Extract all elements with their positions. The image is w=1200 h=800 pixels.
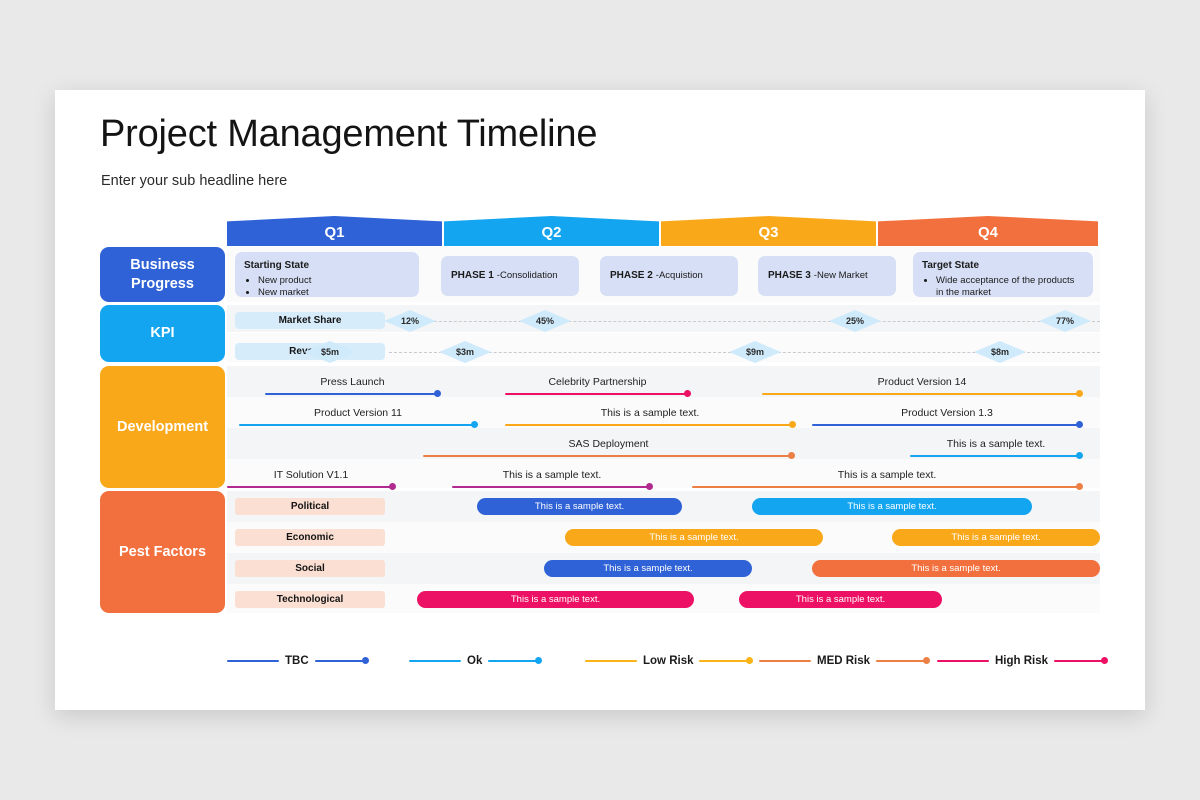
phase-desc: -Consolidation <box>497 270 558 283</box>
legend-endpoint-dot <box>1101 657 1108 664</box>
pest-label-technological[interactable]: Technological <box>235 591 385 608</box>
development-track-line <box>812 424 1082 427</box>
development-track-endpoint <box>1076 452 1083 459</box>
kpi-marker-value: 45% <box>536 316 554 326</box>
development-track-line <box>265 393 440 396</box>
business-progress-phase-card-3[interactable]: PHASE 3-New Market <box>758 256 896 296</box>
legend: TBCOkLow RiskMED RiskHigh Risk <box>227 648 1107 674</box>
legend-item-tbc[interactable]: TBC <box>227 648 367 674</box>
kpi-connector-line <box>389 321 1100 322</box>
category-label: BusinessProgress <box>130 256 194 293</box>
development-track-line <box>692 486 1082 489</box>
card-bullets: New productNew market <box>244 275 410 301</box>
development-track-endpoint <box>1076 390 1083 397</box>
legend-line-left <box>759 660 811 663</box>
legend-label: Low Risk <box>637 655 699 667</box>
page-title: Project Management Timeline <box>100 113 597 156</box>
pest-bar-text: This is a sample text. <box>911 563 1000 574</box>
business-progress-phase-card-2[interactable]: PHASE 2-Acquistion <box>600 256 738 296</box>
category-label: KPI <box>150 324 174 343</box>
development-track-label: SAS Deployment <box>423 438 794 450</box>
phase-name: PHASE 1 <box>451 269 494 283</box>
pest-label-social[interactable]: Social <box>235 560 385 577</box>
legend-label: TBC <box>279 655 315 667</box>
pest-bar[interactable]: This is a sample text. <box>739 591 942 608</box>
pest-bar-text: This is a sample text. <box>603 563 692 574</box>
legend-endpoint-dot <box>362 657 369 664</box>
quarter-header-q4[interactable]: Q4 <box>878 216 1098 246</box>
pest-label-text: Technological <box>277 594 344 605</box>
quarter-label: Q2 <box>541 224 561 241</box>
legend-line-right <box>876 660 928 663</box>
pest-bar[interactable]: This is a sample text. <box>565 529 823 546</box>
legend-line-left <box>409 660 461 663</box>
category-block-development[interactable]: Development <box>100 366 225 488</box>
category-block-pest-factors[interactable]: Pest Factors <box>100 491 225 613</box>
card-bullet: New product <box>258 275 410 288</box>
legend-line-right <box>315 660 367 663</box>
development-track[interactable]: IT Solution V1.1 <box>227 459 395 488</box>
phase-name: PHASE 2 <box>610 269 653 283</box>
legend-line-left <box>937 660 989 663</box>
development-track-line <box>239 424 477 427</box>
legend-item-low-risk[interactable]: Low Risk <box>585 648 751 674</box>
quarter-label: Q1 <box>324 224 344 241</box>
development-track[interactable]: SAS Deployment <box>423 428 794 457</box>
development-track[interactable]: Product Version 11 <box>239 397 477 426</box>
pest-bar-text: This is a sample text. <box>649 532 738 543</box>
kpi-marker-value: $9m <box>746 347 764 357</box>
development-track-label: Celebrity Partnership <box>505 376 690 388</box>
category-block-kpi[interactable]: KPI <box>100 305 225 362</box>
page-subtitle: Enter your sub headline here <box>101 173 287 189</box>
development-track-endpoint <box>684 390 691 397</box>
pest-bar[interactable]: This is a sample text. <box>544 560 752 577</box>
pest-bar[interactable]: This is a sample text. <box>892 529 1100 546</box>
development-track-label: This is a sample text. <box>910 438 1082 450</box>
development-track-label: Product Version 1.3 <box>812 407 1082 419</box>
quarter-header-q1[interactable]: Q1 <box>227 216 442 246</box>
legend-line-left <box>227 660 279 663</box>
quarter-header-q3[interactable]: Q3 <box>661 216 876 246</box>
kpi-marker-value: 12% <box>401 316 419 326</box>
development-track-label: This is a sample text. <box>692 469 1082 481</box>
development-track-endpoint <box>788 452 795 459</box>
quarter-header-q2[interactable]: Q2 <box>444 216 659 246</box>
kpi-marker-value: $5m <box>321 347 339 357</box>
pest-bar-text: This is a sample text. <box>535 501 624 512</box>
legend-endpoint-dot <box>923 657 930 664</box>
category-label: Development <box>117 418 208 437</box>
development-track-endpoint <box>434 390 441 397</box>
quarter-label: Q4 <box>978 224 998 241</box>
development-track-line <box>505 424 795 427</box>
pest-bar[interactable]: This is a sample text. <box>752 498 1032 515</box>
phase-name: PHASE 3 <box>768 269 811 283</box>
pest-bar[interactable]: This is a sample text. <box>417 591 694 608</box>
development-track-line <box>910 455 1082 458</box>
legend-item-high-risk[interactable]: High Risk <box>937 648 1106 674</box>
legend-line-right <box>699 660 751 663</box>
pest-bar-text: This is a sample text. <box>796 594 885 605</box>
legend-endpoint-dot <box>535 657 542 664</box>
slide-canvas: Project Management Timeline Enter your s… <box>55 90 1145 710</box>
card-heading: Target State <box>922 259 1084 273</box>
pest-label-text: Economic <box>286 532 334 543</box>
development-track[interactable]: This is a sample text. <box>452 459 652 488</box>
kpi-label-market-share[interactable]: Market Share <box>235 312 385 329</box>
pest-bar[interactable]: This is a sample text. <box>477 498 682 515</box>
business-progress-target-card[interactable]: Target StateWide acceptance of the produ… <box>913 252 1093 297</box>
development-track-label: Press Launch <box>265 376 440 388</box>
development-track-label: This is a sample text. <box>505 407 795 419</box>
development-track-endpoint <box>1076 483 1083 490</box>
development-track-endpoint <box>389 483 396 490</box>
development-track-line <box>452 486 652 489</box>
pest-bar-text: This is a sample text. <box>951 532 1040 543</box>
development-track[interactable]: This is a sample text. <box>692 459 1082 488</box>
business-progress-phase-card-1[interactable]: PHASE 1-Consolidation <box>441 256 579 296</box>
development-track-line <box>762 393 1082 396</box>
legend-line-left <box>585 660 637 663</box>
phase-desc: -Acquistion <box>656 270 703 283</box>
development-track-endpoint <box>1076 421 1083 428</box>
development-track[interactable]: Product Version 14 <box>762 366 1082 395</box>
card-bullet: New market <box>258 287 410 300</box>
card-bullet: Wide acceptance of the products in the m… <box>936 275 1084 301</box>
development-track-endpoint <box>646 483 653 490</box>
pest-label-text: Social <box>295 563 324 574</box>
category-label: Pest Factors <box>119 543 206 562</box>
quarter-label: Q3 <box>758 224 778 241</box>
development-track-label: This is a sample text. <box>452 469 652 481</box>
business-progress-start-card[interactable]: Starting StateNew productNew market <box>235 252 419 297</box>
legend-label: High Risk <box>989 655 1054 667</box>
development-track-line <box>227 486 395 489</box>
pest-label-political[interactable]: Political <box>235 498 385 515</box>
development-track[interactable]: This is a sample text. <box>505 397 795 426</box>
legend-item-ok[interactable]: Ok <box>409 648 540 674</box>
legend-label: MED Risk <box>811 655 876 667</box>
development-track[interactable]: This is a sample text. <box>910 428 1082 457</box>
phase-desc: -New Market <box>814 270 868 283</box>
pest-label-economic[interactable]: Economic <box>235 529 385 546</box>
kpi-marker-value: 25% <box>846 316 864 326</box>
development-track-line <box>423 455 794 458</box>
kpi-label-text: Market Share <box>279 315 342 326</box>
pest-bar-text: This is a sample text. <box>511 594 600 605</box>
legend-endpoint-dot <box>746 657 753 664</box>
development-track-endpoint <box>789 421 796 428</box>
kpi-marker-value: $8m <box>991 347 1009 357</box>
category-block-business-progress[interactable]: BusinessProgress <box>100 247 225 302</box>
legend-label: Ok <box>461 655 488 667</box>
development-track-label: IT Solution V1.1 <box>227 469 395 481</box>
pest-bar-text: This is a sample text. <box>847 501 936 512</box>
development-track[interactable]: Press Launch <box>265 366 440 395</box>
legend-line-right <box>488 660 540 663</box>
legend-line-right <box>1054 660 1106 663</box>
card-heading: Starting State <box>244 259 410 273</box>
pest-label-text: Political <box>291 501 329 512</box>
development-track-label: Product Version 14 <box>762 376 1082 388</box>
development-track-label: Product Version 11 <box>239 407 477 419</box>
legend-item-med-risk[interactable]: MED Risk <box>759 648 928 674</box>
development-track[interactable]: Product Version 1.3 <box>812 397 1082 426</box>
development-track[interactable]: Celebrity Partnership <box>505 366 690 395</box>
kpi-marker-value: 77% <box>1056 316 1074 326</box>
development-track-line <box>505 393 690 396</box>
kpi-marker-value: $3m <box>456 347 474 357</box>
pest-bar[interactable]: This is a sample text. <box>812 560 1100 577</box>
development-track-endpoint <box>471 421 478 428</box>
card-bullets: Wide acceptance of the products in the m… <box>922 275 1084 301</box>
